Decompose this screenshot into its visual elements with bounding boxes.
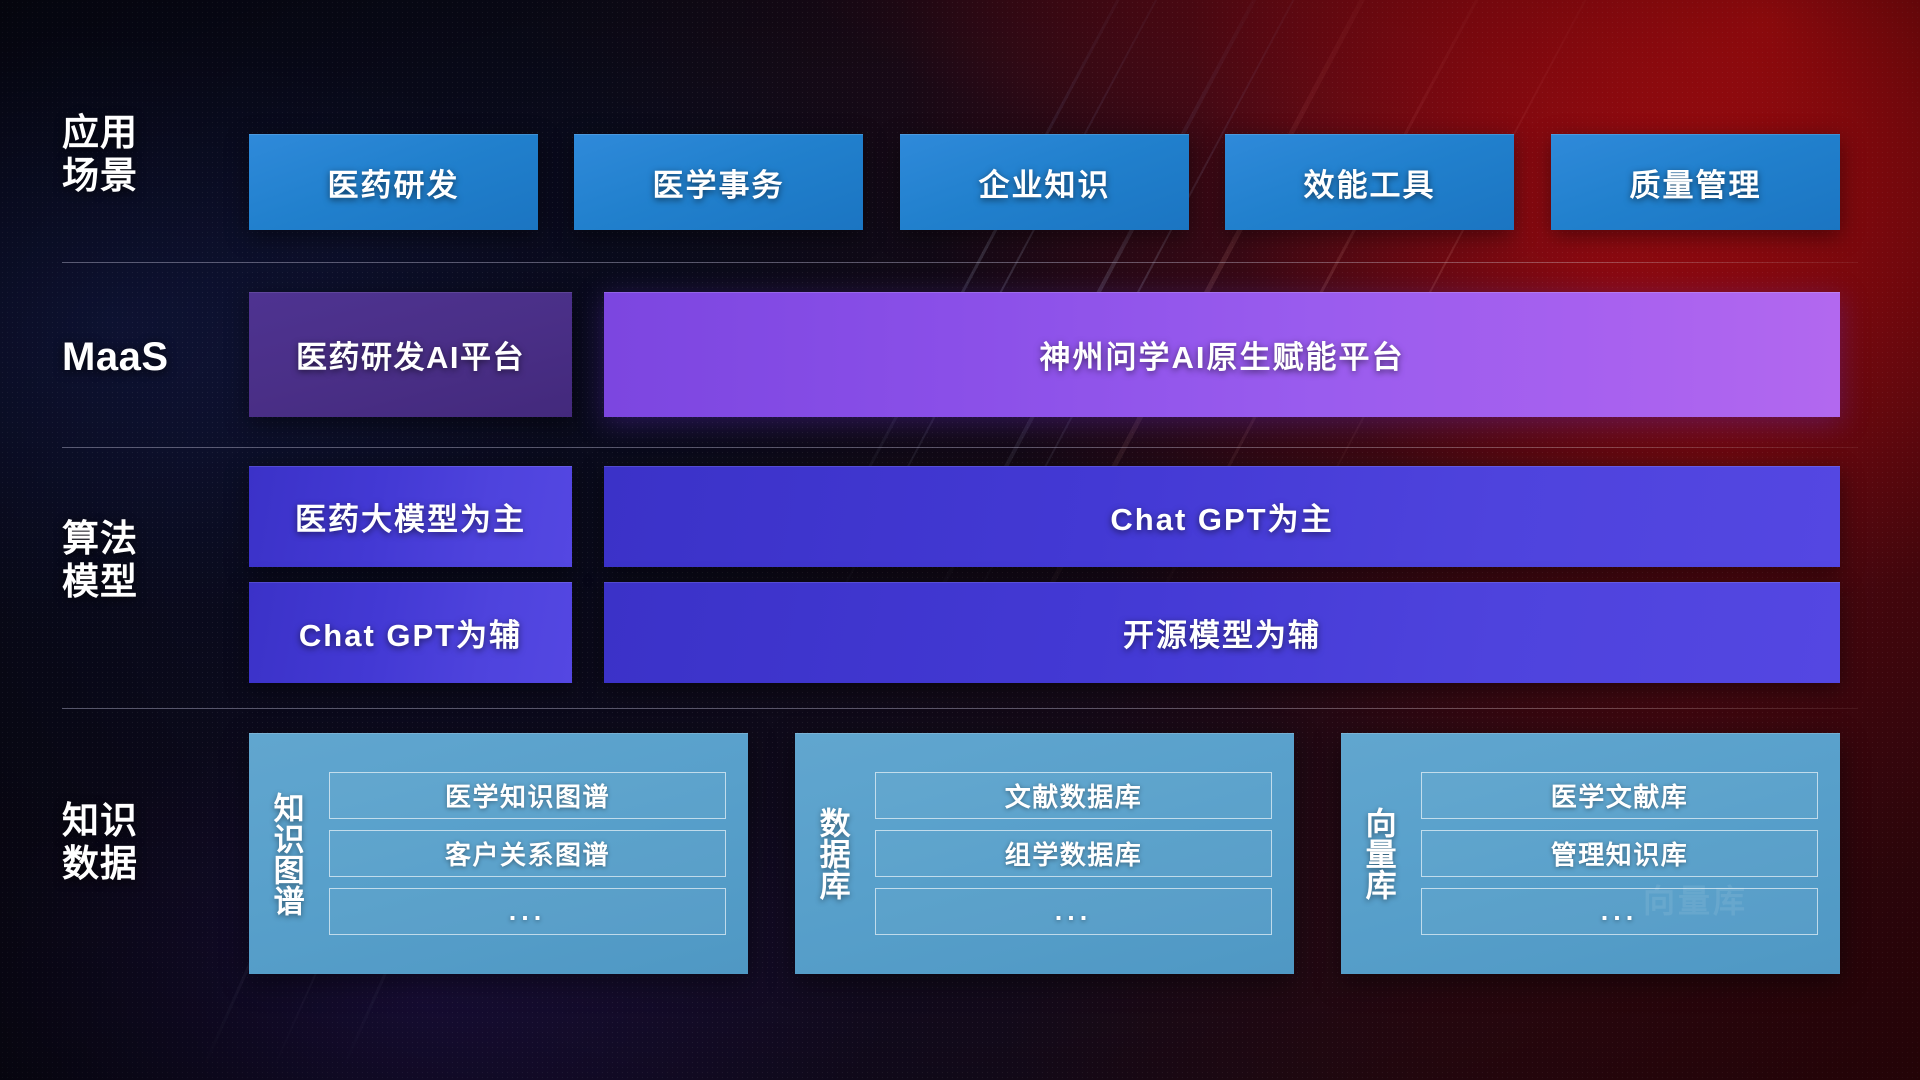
knowledge-item-more-3-label: ... — [1601, 896, 1639, 927]
application-card-1[interactable]: 医药研发 — [249, 134, 538, 230]
tier-label-application-line2: 场景 — [62, 155, 222, 198]
divider-maas-algorithm — [62, 447, 1858, 448]
algorithm-card-chatgpt-primary-label: Chat GPT为主 — [1110, 494, 1333, 539]
application-card-2[interactable]: 医学事务 — [574, 134, 863, 230]
divider-algorithm-knowledge — [62, 708, 1858, 709]
algorithm-card-chatgpt-primary[interactable]: Chat GPT为主 — [604, 466, 1840, 567]
knowledge-group-database-items: 文献数据库 组学数据库 ... — [869, 758, 1294, 949]
knowledge-item-more-3[interactable]: ... — [1421, 888, 1818, 935]
algorithm-card-chatgpt-secondary[interactable]: Chat GPT为辅 — [249, 582, 572, 683]
knowledge-group-database-label: 数据库 — [795, 807, 869, 900]
application-card-4[interactable]: 效能工具 — [1225, 134, 1514, 230]
algorithm-card-chatgpt-secondary-label: Chat GPT为辅 — [299, 610, 522, 655]
knowledge-item-management-knowledge-store[interactable]: 管理知识库 — [1421, 830, 1818, 877]
knowledge-group-knowledge-graph[interactable]: 知识图谱 医学知识图谱 客户关系图谱 ... — [249, 733, 748, 974]
knowledge-item-more-1-label: ... — [509, 896, 547, 927]
tier-label-algorithm: 算法 模型 — [62, 518, 222, 604]
knowledge-group-database[interactable]: 数据库 文献数据库 组学数据库 ... — [795, 733, 1294, 974]
knowledge-group-knowledge-graph-label: 知识图谱 — [249, 792, 323, 916]
tier-label-algorithm-line2: 模型 — [62, 561, 222, 604]
knowledge-item-medical-knowledge-graph[interactable]: 医学知识图谱 — [329, 772, 726, 819]
tier-label-application-line1: 应用 — [62, 112, 222, 155]
algorithm-card-drug-model-primary[interactable]: 医药大模型为主 — [249, 466, 572, 567]
knowledge-item-more-1[interactable]: ... — [329, 888, 726, 935]
application-card-3[interactable]: 企业知识 — [900, 134, 1189, 230]
knowledge-item-management-knowledge-store-label: 管理知识库 — [1551, 835, 1689, 872]
algorithm-card-opensource-secondary[interactable]: 开源模型为辅 — [604, 582, 1840, 683]
knowledge-item-customer-relation-graph[interactable]: 客户关系图谱 — [329, 830, 726, 877]
application-card-3-label: 企业知识 — [979, 160, 1111, 205]
tier-label-knowledge-line2: 数据 — [62, 843, 222, 886]
algorithm-card-opensource-secondary-label: 开源模型为辅 — [1123, 610, 1321, 655]
tier-label-knowledge: 知识 数据 — [62, 800, 222, 886]
algorithm-card-drug-model-primary-label: 医药大模型为主 — [295, 494, 526, 539]
knowledge-item-medical-literature-store-label: 医学文献库 — [1551, 777, 1689, 814]
knowledge-item-omics-database-label: 组学数据库 — [1005, 835, 1143, 872]
knowledge-item-omics-database[interactable]: 组学数据库 — [875, 830, 1272, 877]
knowledge-item-more-2-label: ... — [1055, 896, 1093, 927]
divider-application-maas — [62, 262, 1858, 263]
tier-label-maas-text: MaaS — [62, 334, 222, 380]
application-card-1-label: 医药研发 — [328, 160, 460, 205]
knowledge-item-literature-database[interactable]: 文献数据库 — [875, 772, 1272, 819]
maas-card-shenzhou-platform[interactable]: 神州问学AI原生赋能平台 — [604, 292, 1840, 417]
application-card-4-label: 效能工具 — [1304, 160, 1436, 205]
knowledge-item-more-2[interactable]: ... — [875, 888, 1272, 935]
application-card-5-label: 质量管理 — [1630, 160, 1762, 205]
knowledge-group-vector-store-label: 向量库 — [1341, 807, 1415, 900]
tier-label-application: 应用 场景 — [62, 112, 222, 198]
knowledge-item-customer-relation-graph-label: 客户关系图谱 — [445, 835, 610, 872]
application-card-2-label: 医学事务 — [653, 160, 785, 205]
knowledge-group-vector-store-items: 医学文献库 管理知识库 ... — [1415, 758, 1840, 949]
knowledge-item-medical-knowledge-graph-label: 医学知识图谱 — [445, 777, 610, 814]
tier-label-knowledge-line1: 知识 — [62, 800, 222, 843]
knowledge-group-knowledge-graph-items: 医学知识图谱 客户关系图谱 ... — [323, 758, 748, 949]
architecture-diagram: 应用 场景 医药研发 医学事务 企业知识 效能工具 质量管理 MaaS 医药研发… — [0, 0, 1920, 1080]
maas-card-drug-rd-platform-label: 医药研发AI平台 — [296, 332, 525, 377]
knowledge-group-vector-store[interactable]: 向量库 医学文献库 管理知识库 ... — [1341, 733, 1840, 974]
knowledge-item-medical-literature-store[interactable]: 医学文献库 — [1421, 772, 1818, 819]
tier-label-maas: MaaS — [62, 334, 222, 380]
application-card-5[interactable]: 质量管理 — [1551, 134, 1840, 230]
tier-label-algorithm-line1: 算法 — [62, 518, 222, 561]
maas-card-shenzhou-platform-label: 神州问学AI原生赋能平台 — [1040, 332, 1405, 377]
maas-card-drug-rd-platform[interactable]: 医药研发AI平台 — [249, 292, 572, 417]
knowledge-item-literature-database-label: 文献数据库 — [1005, 777, 1143, 814]
